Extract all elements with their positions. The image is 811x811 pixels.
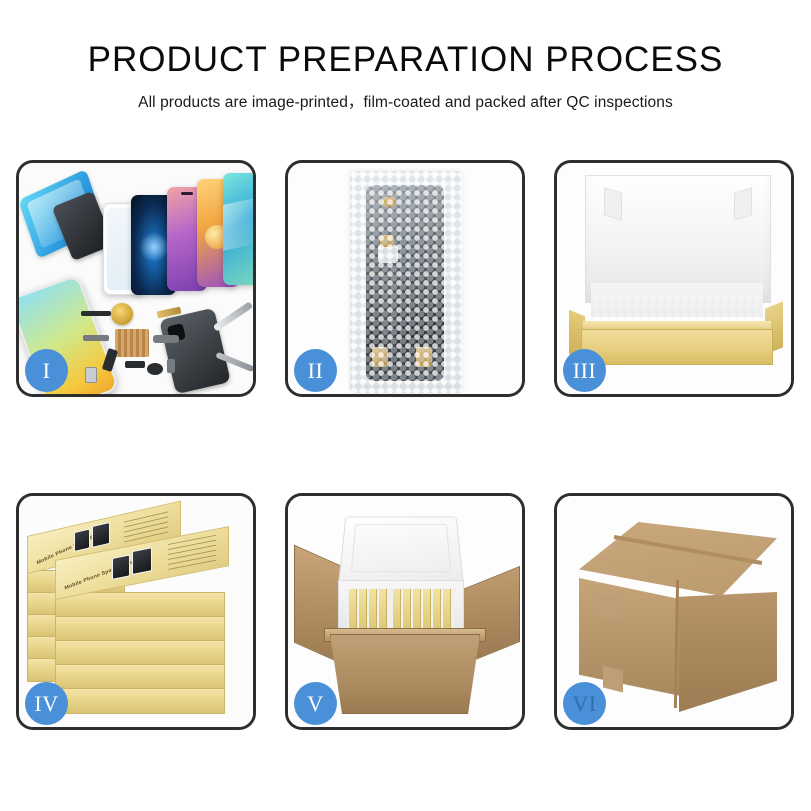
speaker-coil-part [111, 303, 133, 325]
stacked-box-front-3 [55, 640, 225, 666]
page-subtitle: All products are image-printed，film-coat… [0, 90, 811, 112]
box-thumb-rear-1 [74, 528, 90, 552]
part-bar-2 [83, 335, 109, 341]
gold-box-3 [369, 589, 377, 631]
carton-tape-top [599, 594, 619, 621]
step-panel-i: I [16, 160, 256, 397]
page-title: PRODUCT PREPARATION PROCESS [0, 42, 811, 79]
phone-display-teal [223, 173, 253, 285]
step-badge-i: I [25, 349, 68, 392]
step-panel-ii: II [285, 160, 525, 397]
box-thumb-front-2 [132, 547, 152, 575]
gold-box-7 [413, 589, 421, 631]
gold-box-4 [379, 589, 387, 631]
part-bar-3 [125, 361, 145, 368]
sealed-carton-right-face [679, 592, 777, 712]
step-badge-ii: II [294, 349, 337, 392]
gold-box-2 [359, 589, 367, 631]
phone-notch [181, 192, 193, 195]
foam-box-contents [347, 589, 455, 631]
bubble-texture-highlight [350, 171, 462, 393]
gold-box-6 [403, 589, 411, 631]
lid-flap-left [604, 187, 622, 220]
box-thumb-rear-2 [92, 522, 110, 548]
stacked-box-front-1 [55, 592, 225, 618]
product-preparation-page: PRODUCT PREPARATION PROCESS All products… [0, 0, 811, 811]
lid-flap-right [734, 187, 752, 220]
step-panel-iv: Mobile Phone Spare Parts Mobile Phone Sp… [16, 493, 256, 730]
step-panel-iii: III [554, 160, 794, 397]
part-speaker [147, 363, 163, 375]
sealed-carton-left-face [579, 578, 681, 696]
stacked-box-front-5 [55, 688, 225, 714]
box-front-panel [581, 329, 773, 365]
box-thumb-front-1 [112, 554, 130, 579]
carton-body [330, 634, 480, 714]
step-badge-iv: IV [25, 682, 68, 725]
bubble-wrap-bag [350, 171, 462, 393]
step-badge-iii: III [563, 349, 606, 392]
step-badge-vi: VI [563, 682, 606, 725]
chip-grid-part [115, 329, 149, 357]
gold-box-5 [393, 589, 401, 631]
gold-box-1 [349, 589, 357, 631]
step-badge-v: V [294, 682, 337, 725]
part-sim-tray [85, 367, 97, 383]
step-panel-v: V [285, 493, 525, 730]
process-step-grid: I II [16, 160, 795, 730]
foam-box-lid [338, 517, 464, 584]
box-speclines-front [168, 535, 216, 570]
carton-tape-bottom [603, 666, 623, 693]
tweezers-tool [213, 301, 253, 331]
page-header: PRODUCT PREPARATION PROCESS All products… [0, 0, 811, 112]
gold-box-8 [423, 589, 431, 631]
part-connector-1 [153, 335, 179, 343]
box-speclines-rear [124, 508, 168, 542]
gold-box-10 [443, 589, 451, 631]
gold-box-9 [433, 589, 441, 631]
part-bar-1 [81, 311, 111, 316]
part-button [167, 359, 175, 373]
stacked-box-front-4 [55, 664, 225, 690]
stacked-box-front-2 [55, 616, 225, 642]
step-panel-vi: VI [554, 493, 794, 730]
